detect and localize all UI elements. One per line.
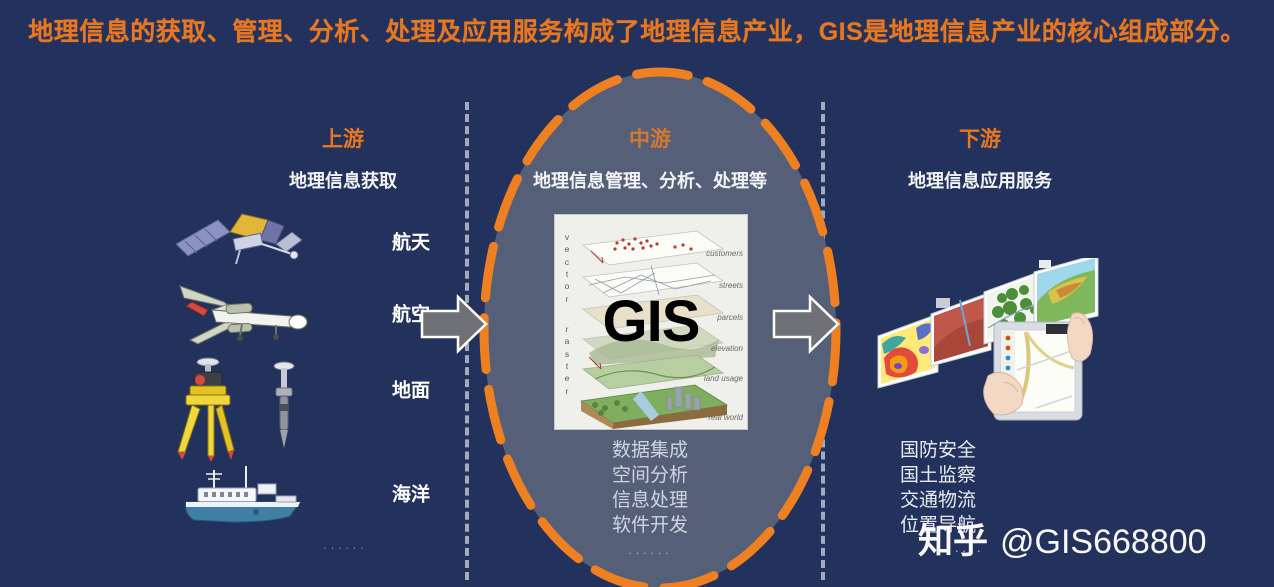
list-item: 交通物流 bbox=[900, 488, 1100, 513]
upstream-item-aviation: 航空 bbox=[170, 276, 450, 350]
arrow-right-icon-downstream bbox=[772, 293, 840, 360]
list-item: 信息处理 bbox=[560, 488, 740, 513]
gis-layer-label-streets: streets bbox=[719, 281, 743, 290]
watermark: 知乎@GIS668800 bbox=[918, 513, 1207, 564]
upstream-item-label: 地面 bbox=[392, 376, 430, 403]
gis-word: GIS bbox=[555, 293, 747, 351]
list-item: 国防安全 bbox=[900, 438, 1100, 463]
upstream-item-label: 航天 bbox=[392, 228, 430, 255]
title-band: 地理信息的获取、管理、分析、处理及应用服务构成了地理信息产业，GIS是地理信息产… bbox=[0, 0, 1274, 60]
upstream-item-ocean: 海洋 bbox=[170, 456, 450, 530]
watermark-handle: @GIS668800 bbox=[1000, 523, 1207, 561]
list-item: 软件开发 bbox=[560, 513, 740, 538]
airplane-icon bbox=[170, 276, 320, 350]
page-title: 地理信息的获取、管理、分析、处理及应用服务构成了地理信息产业，GIS是地理信息产… bbox=[28, 12, 1246, 48]
watermark-site: 知乎 bbox=[918, 522, 988, 562]
upstream-item-satellite: 航天 bbox=[170, 204, 450, 278]
downstream-stage-label: 下游 bbox=[890, 123, 1070, 153]
upstream-subtitle: 地理信息获取 bbox=[193, 167, 493, 193]
downstream-subtitle: 地理信息应用服务 bbox=[830, 167, 1130, 193]
upstream-ellipsis: ······ bbox=[300, 540, 390, 555]
gis-layer-label-customers: customers bbox=[706, 249, 743, 258]
midstream-ellipsis: ······ bbox=[560, 545, 740, 560]
gis-side-label-vector: vector bbox=[561, 231, 573, 305]
slide-canvas: 地理信息的获取、管理、分析、处理及应用服务构成了地理信息产业，GIS是地理信息产… bbox=[0, 0, 1274, 587]
list-item: 国土监察 bbox=[900, 463, 1100, 488]
upstream-stage-label: 上游 bbox=[253, 123, 433, 153]
gis-layer-label-parcels: parcels bbox=[717, 313, 743, 322]
gis-layer-label-land-usage: land usage bbox=[704, 374, 743, 383]
midstream-subtitle: 地理信息管理、分析、处理等 bbox=[480, 167, 820, 193]
midstream-stage-label: 中游 bbox=[560, 123, 740, 153]
survey-tripod-icon bbox=[170, 352, 320, 426]
upstream-item-ground: 地面 bbox=[170, 352, 450, 426]
midstream-capability-list: 数据集成 空间分析 信息处理 软件开发 bbox=[560, 438, 740, 538]
map-panels-and-tablet-icon bbox=[876, 258, 1106, 423]
list-item: 数据集成 bbox=[560, 438, 740, 463]
list-item: 空间分析 bbox=[560, 463, 740, 488]
survey-ship-icon bbox=[170, 456, 320, 530]
gis-layers-image: GIS vector raster customers streets parc… bbox=[554, 214, 748, 430]
upstream-item-label: 海洋 bbox=[392, 480, 430, 507]
arrow-right-icon-upstream bbox=[420, 293, 488, 360]
gis-side-label-raster: raster bbox=[561, 323, 573, 397]
satellite-icon bbox=[170, 204, 320, 278]
gis-layer-label-real-world: real world bbox=[708, 413, 743, 422]
gis-layer-label-elevation: elevation bbox=[711, 344, 743, 353]
